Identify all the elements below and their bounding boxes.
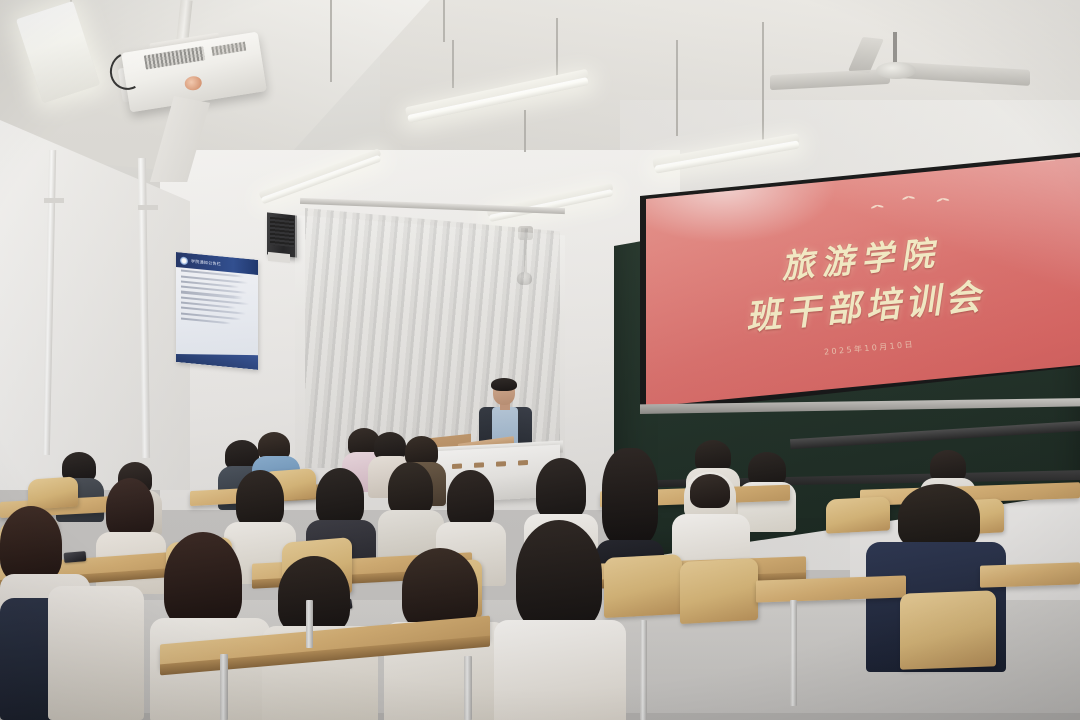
projector-lens — [184, 75, 203, 91]
bird-decoration-icon — [870, 190, 961, 216]
light-hanger — [524, 110, 526, 152]
fan-rod — [893, 32, 897, 66]
school-logo-icon — [180, 256, 188, 265]
pipe-bracket — [138, 205, 158, 210]
ceiling-fan — [876, 62, 916, 79]
classroom-photo: 学院通知公告栏 班级管理工作规范 旅游学院 — [0, 0, 1080, 720]
chair-back — [28, 476, 78, 509]
notice-header-text: 学院通知公告栏 — [191, 258, 221, 267]
student-person — [48, 586, 144, 720]
light-hanger — [762, 22, 764, 142]
student-person — [494, 520, 626, 720]
desk-leg — [640, 620, 647, 720]
speaker-grille — [270, 217, 294, 248]
light-hanger — [330, 0, 332, 82]
desk-leg — [464, 656, 472, 720]
chair-back — [680, 558, 758, 624]
chair-back — [900, 590, 996, 669]
student-desk — [980, 562, 1080, 587]
light-hanger — [452, 40, 454, 88]
desk-leg — [790, 600, 797, 706]
presenter-hair — [491, 378, 517, 391]
student-person — [150, 532, 270, 720]
desk-leg — [220, 654, 228, 720]
chair-leg — [306, 600, 313, 648]
wall-speaker — [267, 212, 297, 257]
light-hanger — [676, 40, 678, 136]
slide-content: 旅游学院 班干部培训会 2025年10月10日 — [646, 157, 1080, 407]
student-person — [378, 462, 444, 554]
wall-notice-board: 学院通知公告栏 班级管理工作规范 — [176, 252, 258, 370]
projector-vent — [144, 46, 205, 69]
pipe-bracket — [44, 198, 64, 203]
light-hanger — [443, 0, 445, 42]
projection-screen: 旅游学院 班干部培训会 2025年10月10日 — [646, 157, 1080, 407]
projector-vent — [211, 42, 246, 56]
